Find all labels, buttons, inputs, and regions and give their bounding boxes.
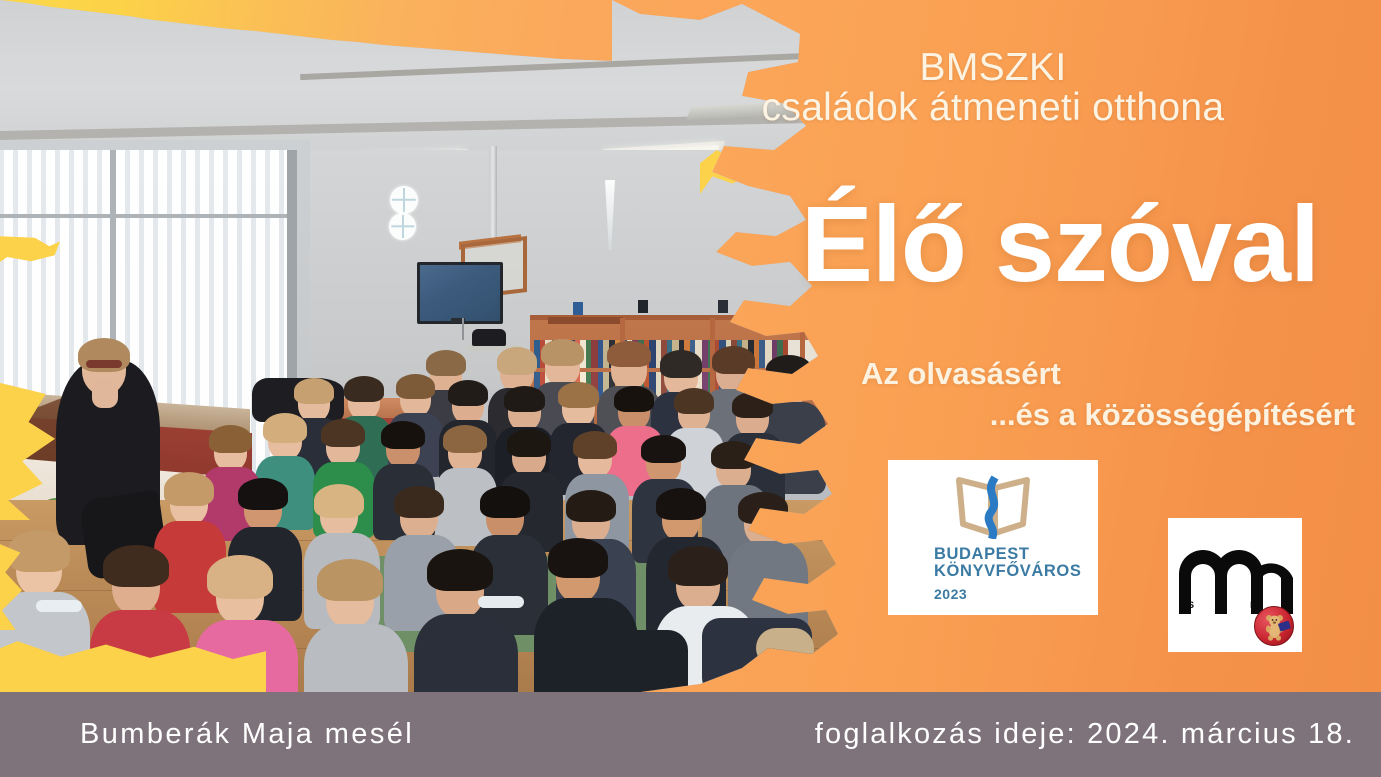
org-line-2: családok átmeneti otthona [643,88,1343,128]
eyeglasses [36,600,82,612]
wall-mounted-tv [417,262,503,324]
bookshelf-label [548,317,623,324]
speaker-hand [92,378,118,408]
book-on-top [638,300,648,313]
snowflake-decoration [390,186,418,214]
window-transom [0,214,290,218]
shoe [756,628,814,668]
book-on-top [573,302,583,315]
page-title: Élő szóval [801,190,1319,298]
seated-child-torso [596,630,688,692]
organization-title: BMSZKI családok átmeneti otthona [643,48,1343,128]
tagline: Az olvasásért ...és a közösségépítésért [799,354,1359,436]
teddy-bear-badge-icon [1254,606,1294,646]
tagline-line-1: Az olvasásért [799,354,1359,395]
eyeglasses [478,596,524,608]
org-line-1: BMSZKI [920,46,1067,89]
poster-canvas: BMSZKI családok átmeneti otthona Élő szó… [0,0,1381,777]
book-on-top [718,300,728,313]
event-time-label: foglalkozás ideje: 2024. március 18. [815,718,1355,751]
ceiling-pole [489,146,497,242]
bkf-line-1: BUDAPEST [934,546,1052,563]
presenter-label: Bumberák Maja mesél [80,718,414,751]
bkf-year: 2023 [934,586,1052,602]
tv-cable [462,318,464,340]
mm-letter-s: S [1188,600,1194,610]
mm-szhe-logo: S Z H E [1168,518,1302,652]
badge-tag [1278,620,1291,631]
bkf-wordmark: BUDAPEST KÖNYVFŐVÁROS [934,546,1052,581]
speaker-glasses [86,360,122,368]
snowflake-decoration [389,213,416,240]
mm-letter-z: Z [1219,600,1225,610]
bkf-line-2: KÖNYVFŐVÁROS [934,563,1052,580]
footer-bar: Bumberák Maja mesél foglalkozás ideje: 2… [0,692,1381,777]
open-book-icon [953,471,1033,539]
ceiling-light-fixture [714,163,840,183]
mm-letter-h: H [1250,600,1257,610]
shelf-object [472,329,506,346]
budapest-konyvfovaros-logo: BUDAPEST KÖNYVFŐVÁROS 2023 [888,460,1098,615]
tagline-line-2: ...és a közösségépítésért [799,395,1359,436]
